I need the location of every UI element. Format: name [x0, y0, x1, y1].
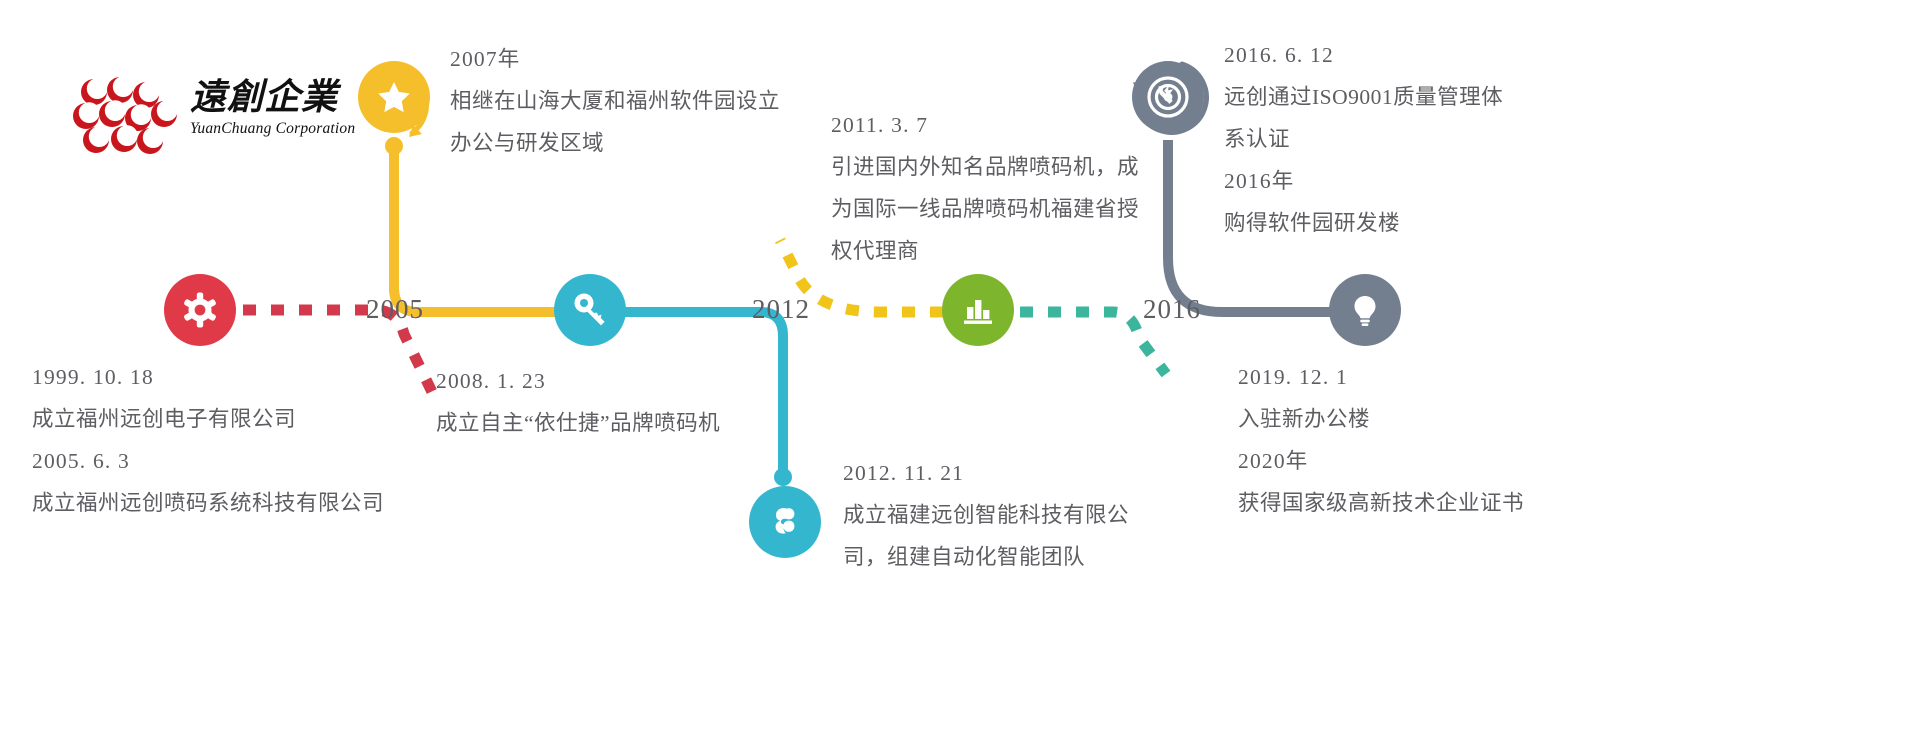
connector-yellow-solid [394, 140, 566, 312]
event-line: 2011. 3. 7 [831, 104, 1139, 146]
event-line: 相继在山海大厦和福州软件园设立 [450, 80, 780, 122]
event-2019: 2019. 12. 1 入驻新办公楼 2020年 获得国家级高新技术企业证书 [1238, 356, 1524, 524]
event-line: 系认证 [1224, 118, 1503, 160]
gear-icon [180, 290, 220, 330]
event-line: 2012. 11. 21 [843, 452, 1129, 494]
event-line: 获得国家级高新技术企业证书 [1238, 482, 1524, 524]
event-line: 权代理商 [831, 230, 1139, 272]
lightbulb-icon [1346, 291, 1384, 329]
event-2016: 2016. 6. 12 远创通过ISO9001质量管理体 系认证 2016年 购… [1224, 34, 1503, 244]
flower-icon [765, 502, 805, 542]
year-label-2016: 2016 [1143, 294, 1201, 325]
node-lightbulb[interactable] [1329, 274, 1401, 346]
node-key[interactable] [554, 274, 626, 346]
event-line: 司，组建自动化智能团队 [843, 536, 1129, 578]
event-line: 2019. 12. 1 [1238, 356, 1524, 398]
star-arc-icon [350, 53, 438, 141]
company-logo: 遠創企業 YuanChuang Corporation [72, 72, 382, 164]
event-line: 成立福州远创喷码系统科技有限公司 [32, 482, 384, 524]
event-1999: 1999. 10. 18 成立福州远创电子有限公司 2005. 6. 3 成立福… [32, 356, 384, 524]
event-2007: 2007年 相继在山海大厦和福州软件园设立 办公与研发区域 [450, 38, 780, 164]
node-gear[interactable] [164, 274, 236, 346]
node-flower[interactable] [749, 486, 821, 558]
event-line: 引进国内外知名品牌喷码机，成 [831, 146, 1139, 188]
key-icon [569, 289, 611, 331]
event-line: 成立自主“依仕捷”品牌喷码机 [436, 402, 720, 444]
event-2012: 2012. 11. 21 成立福建远创智能科技有限公 司，组建自动化智能团队 [843, 452, 1129, 578]
year-label-2012: 2012 [752, 294, 810, 325]
event-2011: 2011. 3. 7 引进国内外知名品牌喷码机，成 为国际一线品牌喷码机福建省授… [831, 104, 1139, 272]
event-line: 办公与研发区域 [450, 122, 780, 164]
event-line: 1999. 10. 18 [32, 356, 384, 398]
event-line: 入驻新办公楼 [1238, 398, 1524, 440]
logo-circles-icon [72, 76, 180, 160]
event-line: 2008. 1. 23 [436, 360, 720, 402]
event-line: 购得软件园研发楼 [1224, 202, 1503, 244]
event-line: 2016年 [1224, 160, 1503, 202]
event-line: 远创通过ISO9001质量管理体 [1224, 76, 1503, 118]
event-line: 2005. 6. 3 [32, 440, 384, 482]
connector-cyan-enddot [774, 468, 792, 486]
event-line: 2016. 6. 12 [1224, 34, 1503, 76]
node-bar-chart[interactable] [942, 274, 1014, 346]
event-line: 为国际一线品牌喷码机福建省授 [831, 188, 1139, 230]
event-line: 2007年 [450, 38, 780, 80]
year-label-2005: 2005 [366, 294, 424, 325]
event-line: 成立福州远创电子有限公司 [32, 398, 384, 440]
event-line: 2020年 [1238, 440, 1524, 482]
event-line: 成立福建远创智能科技有限公 [843, 494, 1129, 536]
timeline-infographic: 遠創企業 YuanChuang Corporation [0, 0, 1919, 756]
bar-chart-icon [958, 290, 998, 330]
event-2008: 2008. 1. 23 成立自主“依仕捷”品牌喷码机 [436, 360, 720, 444]
